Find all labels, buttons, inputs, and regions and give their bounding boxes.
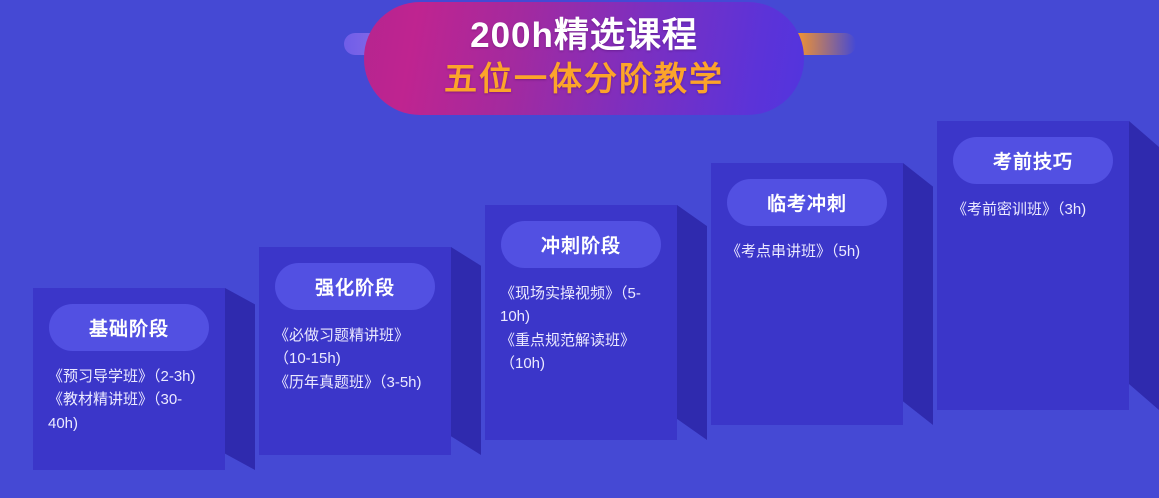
step-stage-pill: 临考冲刺 xyxy=(727,179,887,226)
step-side-face xyxy=(225,288,255,470)
step-stage-pill: 冲刺阶段 xyxy=(501,221,661,268)
banner-title-secondary: 五位一体分阶教学 xyxy=(444,59,724,99)
course-item: 《考前密训班》（3h) xyxy=(952,198,1114,221)
step-block-3: 冲刺阶段 《现场实操视频》（5-10h) 《重点规范解读班》（10h) xyxy=(485,205,677,440)
infographic-canvas: 200h精选课程 五位一体分阶教学 基础阶段 《预习导学班》（2-3h) 《教材… xyxy=(0,0,1159,498)
course-item: 《考点串讲班》（5h) xyxy=(726,240,888,263)
step-course-list: 《考前密训班》（3h) xyxy=(951,198,1115,221)
step-course-list: 《考点串讲班》（5h) xyxy=(725,240,889,263)
step-side-face xyxy=(1129,121,1159,410)
course-item: 《预习导学班》（2-3h) xyxy=(48,365,210,388)
step-block-5: 考前技巧 《考前密训班》（3h) xyxy=(937,121,1129,410)
step-course-list: 《必做习题精讲班》（10-15h) 《历年真题班》（3-5h) xyxy=(273,324,437,394)
step-block-1: 基础阶段 《预习导学班》（2-3h) 《教材精讲班》（30-40h) xyxy=(33,288,225,470)
step-stage-label: 强化阶段 xyxy=(315,273,395,300)
step-course-list: 《现场实操视频》（5-10h) 《重点规范解读班》（10h) xyxy=(499,282,663,375)
course-item: 《重点规范解读班》（10h) xyxy=(500,329,662,376)
step-side-face xyxy=(677,205,707,440)
step-stage-label: 临考冲刺 xyxy=(767,189,847,216)
step-course-list: 《预习导学班》（2-3h) 《教材精讲班》（30-40h) xyxy=(47,365,211,435)
banner-title-primary: 200h精选课程 xyxy=(470,18,698,55)
step-stage-pill: 基础阶段 xyxy=(49,304,209,351)
step-side-face xyxy=(903,163,933,425)
step-side-face xyxy=(451,247,481,455)
step-block-4: 临考冲刺 《考点串讲班》（5h) xyxy=(711,163,903,425)
course-item: 《教材精讲班》（30-40h) xyxy=(48,388,210,435)
course-item: 《历年真题班》（3-5h) xyxy=(274,371,436,394)
course-item: 《现场实操视频》（5-10h) xyxy=(500,282,662,329)
step-stage-pill: 考前技巧 xyxy=(953,137,1113,184)
headline-banner: 200h精选课程 五位一体分阶教学 xyxy=(364,2,804,115)
banner-area: 200h精选课程 五位一体分阶教学 xyxy=(0,0,1159,120)
step-stage-pill: 强化阶段 xyxy=(275,263,435,310)
step-block-2: 强化阶段 《必做习题精讲班》（10-15h) 《历年真题班》（3-5h) xyxy=(259,247,451,455)
step-stage-label: 基础阶段 xyxy=(89,314,169,341)
course-item: 《必做习题精讲班》（10-15h) xyxy=(274,324,436,371)
step-stage-label: 冲刺阶段 xyxy=(541,231,621,258)
step-stage-label: 考前技巧 xyxy=(993,147,1073,174)
